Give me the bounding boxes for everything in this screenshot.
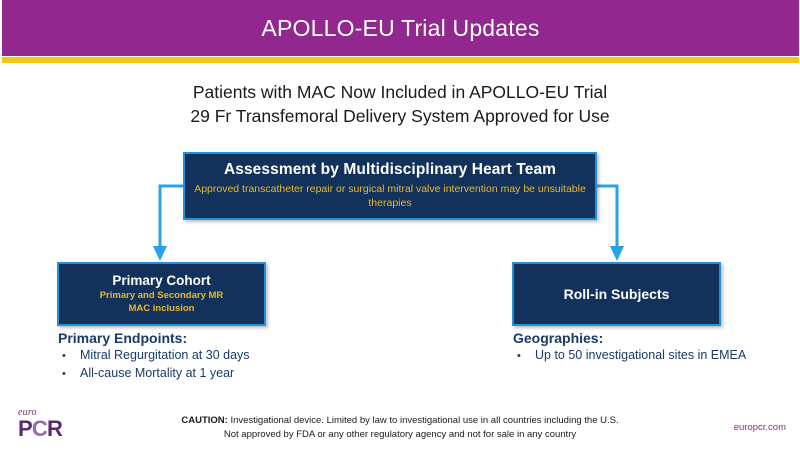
caution-line-1-text: Investigational device. Limited by law t… <box>228 415 619 426</box>
connector-left-arrowhead <box>153 246 167 261</box>
subtitle-line-2: 29 Fr Transfemoral Delivery System Appro… <box>0 104 800 128</box>
geographies-heading: Geographies: <box>513 330 800 346</box>
connector-right-line <box>597 186 617 248</box>
logo-letter-r: R <box>47 416 62 441</box>
primary-endpoints-heading: Primary Endpoints: <box>58 330 358 346</box>
logo-pcr-word: PCR <box>18 418 78 440</box>
subtitle-line-1: Patients with MAC Now Included in APOLLO… <box>0 80 800 104</box>
primary-cohort-details: Primary and Secondary MR MAC inclusion <box>59 290 264 315</box>
title-accent-rule <box>2 57 799 63</box>
bullet-icon: • <box>58 348 80 365</box>
geographies-block: Geographies: • Up to 50 investigational … <box>513 330 800 365</box>
logo-letter-p: P <box>18 416 32 441</box>
list-item: • Mitral Regurgitation at 30 days <box>58 347 358 365</box>
bullet-icon: • <box>513 348 535 365</box>
slide-canvas: APOLLO-EU Trial Updates Patients with MA… <box>0 0 800 450</box>
caution-line-1: CAUTION: Investigational device. Limited… <box>120 414 680 428</box>
connector-right-arrowhead <box>610 246 624 261</box>
slide-title-bar: APOLLO-EU Trial Updates <box>2 0 799 56</box>
primary-endpoint-item-1: Mitral Regurgitation at 30 days <box>80 347 358 364</box>
caution-line-2: Not approved by FDA or any other regulat… <box>120 428 680 442</box>
geographies-item-1: Up to 50 investigational sites in EMEA <box>535 347 800 364</box>
heart-team-subtitle: Approved transcatheter repair or surgica… <box>185 182 595 210</box>
europcr-logo: euro PCR <box>18 407 78 443</box>
primary-endpoint-item-2: All-cause Mortality at 1 year <box>80 365 358 382</box>
primary-endpoints-block: Primary Endpoints: • Mitral Regurgitatio… <box>58 330 358 383</box>
primary-cohort-line-2: MAC inclusion <box>129 303 195 314</box>
assessment-heart-team-box: Assessment by Multidisciplinary Heart Te… <box>183 152 597 220</box>
site-url-label: europcr.com <box>734 422 786 433</box>
heart-team-title: Assessment by Multidisciplinary Heart Te… <box>185 161 595 179</box>
slide-subtitle: Patients with MAC Now Included in APOLLO… <box>0 80 800 128</box>
connector-left-line <box>160 186 183 248</box>
caution-label: CAUTION: <box>181 415 227 426</box>
primary-cohort-title: Primary Cohort <box>59 273 264 288</box>
caution-statement: CAUTION: Investigational device. Limited… <box>120 414 680 442</box>
roll-in-subjects-box: Roll-in Subjects <box>512 262 721 326</box>
list-item: • All-cause Mortality at 1 year <box>58 365 358 383</box>
bullet-icon: • <box>58 366 80 383</box>
logo-letter-c: C <box>32 416 47 441</box>
list-item: • Up to 50 investigational sites in EMEA <box>513 347 800 365</box>
roll-in-subjects-title: Roll-in Subjects <box>514 286 719 302</box>
primary-cohort-box: Primary Cohort Primary and Secondary MR … <box>57 262 266 326</box>
slide-title: APOLLO-EU Trial Updates <box>2 0 799 56</box>
primary-cohort-line-1: Primary and Secondary MR <box>100 290 224 301</box>
